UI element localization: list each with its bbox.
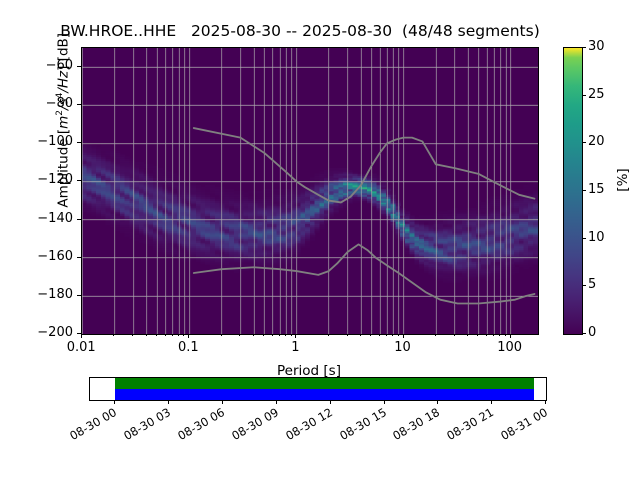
colorbar-tick-label: 0	[588, 325, 596, 340]
y-tick-label: −160	[13, 249, 73, 264]
x-tick-label: 1	[265, 340, 325, 355]
coverage-tick-label: 08-30 12	[258, 405, 334, 457]
peterson-noise-model-curves-canvas	[82, 48, 538, 334]
y-tick-mark	[77, 180, 81, 181]
colorbar-tick-label: 20	[588, 134, 605, 149]
y-tick-mark	[77, 104, 81, 105]
colorbar-tick-label: 25	[588, 87, 605, 102]
y-tick-label: −180	[13, 287, 73, 302]
coverage-tick-label: 08-31 00	[474, 405, 550, 457]
y-tick-mark	[77, 295, 81, 296]
y-tick-label: −200	[13, 325, 73, 340]
time-coverage-bar[interactable]	[89, 377, 547, 401]
ppsd-plot-area[interactable]	[81, 47, 539, 335]
coverage-tick-label: 08-30 21	[420, 405, 496, 457]
data-coverage-band	[115, 378, 534, 389]
colorbar-tick-label: 10	[588, 230, 605, 245]
coverage-tick-label: 08-30 09	[205, 405, 281, 457]
y-tick-mark	[77, 257, 81, 258]
x-tick-label: 0.1	[158, 340, 218, 355]
x-tick-label: 100	[480, 340, 540, 355]
colorbar-tick-label: 30	[588, 39, 605, 54]
y-tick-mark	[77, 219, 81, 220]
coverage-tick-label: 08-30 18	[366, 405, 442, 457]
colorbar-label: [%]	[615, 160, 631, 200]
coverage-tick-label: 08-30 06	[151, 405, 227, 457]
x-tick-label: 0.01	[51, 340, 111, 355]
y-tick-mark	[77, 333, 81, 334]
colorbar-tick-label: 15	[588, 182, 605, 197]
colorbar[interactable]	[563, 47, 583, 335]
psd-segments-band	[115, 389, 534, 400]
figure-title: BW.HROE..HHE 2025-08-30 -- 2025-08-30 (4…	[0, 22, 600, 40]
y-tick-mark	[77, 66, 81, 67]
y-tick-mark	[77, 142, 81, 143]
coverage-tick-label: 08-30 15	[312, 405, 388, 457]
x-tick-label: 10	[373, 340, 433, 355]
ppsd-figure: BW.HROE..HHE 2025-08-30 -- 2025-08-30 (4…	[0, 0, 640, 480]
coverage-tick-label: 08-30 00	[43, 405, 119, 457]
colorbar-tick-label: 5	[588, 277, 596, 292]
coverage-tick-label: 08-30 03	[97, 405, 173, 457]
y-axis-label: Amplitude [m2/s4/Hz] [dB]	[55, 5, 72, 235]
